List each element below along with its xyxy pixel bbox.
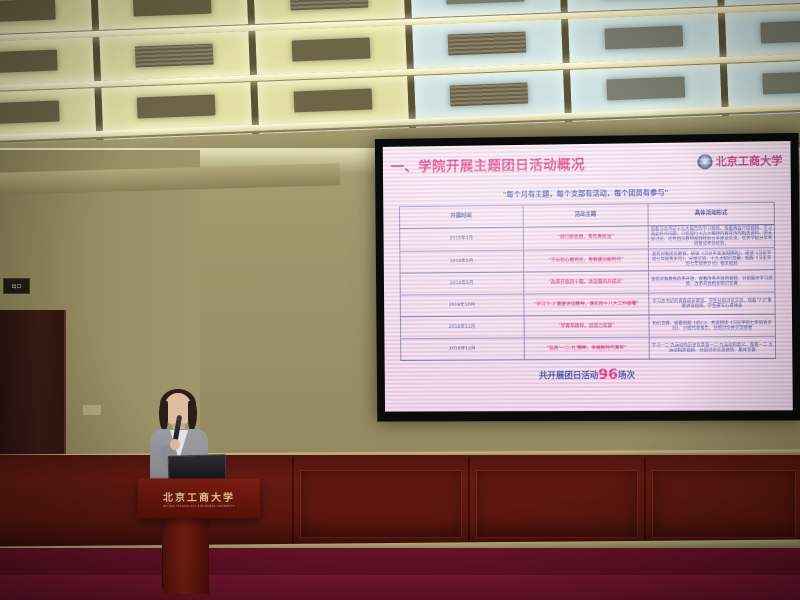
speaker-hair-left <box>159 401 168 431</box>
ceiling-panel <box>0 37 94 87</box>
cell-time: 2018年6月 <box>400 272 524 295</box>
ceiling-panel <box>0 88 96 138</box>
cell-theme: "不忘初心跟党走，青春建功新时代" <box>523 249 648 272</box>
col-header-theme: 活动主题 <box>523 204 648 227</box>
ceiling-panel <box>724 7 800 57</box>
table-row: 2018年12月 "弘扬'一二·九'精神，争做新时代青年" 学习一二·九运动的历… <box>400 337 775 361</box>
university-name: 北京工商大学 <box>716 152 783 169</box>
exit-sign: 出口 <box>3 278 30 294</box>
projection-screen-frame: 一、学院开展主题团日活动概况 北京工商大学 "每个月有主题，每个支部有活动，每个… <box>375 133 800 422</box>
lecture-hall-photo: 出口 一、学院开展主题团日活动概况 北京工商大学 "每个月有主题，每个支部有活动… <box>0 0 800 600</box>
activity-table: 开展时间 活动主题 具体活动形式 2018年4月 "践行新思想，青年勇担当" 观… <box>399 202 776 361</box>
panel-seam <box>292 457 294 545</box>
cell-theme: "学青年榜样，创活力支部" <box>524 315 649 338</box>
ceiling-panel <box>570 64 721 114</box>
cell-time: 2018年4月 <box>400 227 524 251</box>
ceiling-panel <box>101 82 252 132</box>
panel-seam <box>644 457 646 545</box>
slide-subtitle: "每个月有主题，每个支部有活动，每个团员有参与" <box>391 187 783 202</box>
lectern-name-english: BEIJING TECHNOLOGY & BUSINESS UNIVERSITY <box>163 504 235 507</box>
panel-inset <box>300 470 462 538</box>
cell-theme: "践行新思想，青年勇担当" <box>523 226 648 251</box>
slide-header: 一、学院开展主题团日活动概况 北京工商大学 <box>391 147 783 178</box>
lectern-nameplate: 北京工商大学 BEIJING TECHNOLOGY & BUSINESS UNI… <box>138 478 261 517</box>
podium-column <box>163 512 209 594</box>
hall-door[interactable] <box>0 310 66 470</box>
cell-time: 2018年12月 <box>400 338 524 361</box>
footer-prefix: 共开展团日活动 <box>539 371 598 381</box>
table-row: 2018年6月 "改革开放四十载，沐浴春风共成长" 发挥对象教育改革开放、观看改… <box>400 270 775 295</box>
cell-form: 学习总书记的青春成长寄语、学生分组讨论交流、观看"7·2"重要讲话视频、学生撰写… <box>649 292 776 315</box>
panel-inset <box>476 470 638 538</box>
cell-time: 2018年5月 <box>400 250 524 273</box>
ceiling-panel <box>257 76 408 126</box>
cell-form: 学习一二·九运动的历史背景及一二·九运动的意义、观看一二·九运动相关视频、分组讨… <box>649 337 776 360</box>
speaker-hand <box>170 439 180 450</box>
ceiling-vent-panel <box>414 70 565 120</box>
col-header-form: 具体活动形式 <box>648 202 775 226</box>
lectern-name-chinese: 北京工商大学 <box>163 489 235 504</box>
cell-time: 2018年10月 <box>400 294 524 317</box>
presentation-slide: 一、学院开展主题团日活动概况 北京工商大学 "每个月有主题，每个支部有活动，每个… <box>383 141 793 412</box>
lectern: 北京工商大学 BEIJING TECHNOLOGY & BUSINESS UNI… <box>138 478 261 517</box>
ceiling-panel <box>568 13 719 63</box>
cell-theme: "弘扬'一二·九'精神，争做新时代青年" <box>524 337 649 360</box>
slide-title: 一、学院开展主题团日活动概况 <box>391 153 585 176</box>
ceiling-panel <box>726 58 800 108</box>
slide-footer-summary: 共开展团日活动96场次 <box>393 366 785 384</box>
ceiling-panel <box>255 25 406 75</box>
ceiling-vent-panel <box>412 19 563 69</box>
university-logo-icon <box>697 154 712 169</box>
wall-outlet <box>82 404 102 416</box>
projection-screen: 一、学院开展主题团日活动概况 北京工商大学 "每个月有主题，每个支部有活动，每个… <box>383 141 793 412</box>
cell-form: 发挥对象团员教育，研读《习近平谈治国理政》，研读《习近平给七年知青岁月》，分组交… <box>648 248 775 271</box>
footer-count: 96 <box>598 367 618 383</box>
panel-seam <box>468 457 470 545</box>
cell-form: 发挥对象教育改革开放、观看改革开放的视频、分组展示学习成果、改革开放相关知识竞赛 <box>649 270 776 293</box>
exit-sign-label: 出口 <box>11 283 21 290</box>
cell-form: 观看习总书记十九大报告的学习视频、观看两会介绍视频、学习两会热点问题、介绍现行十… <box>648 224 775 249</box>
cell-theme: "改革开放四十载，沐浴春风共成长" <box>524 271 649 294</box>
col-header-time: 开展时间 <box>399 205 523 228</box>
table-row: 2018年11月 "学青年榜样，创活力支部" 知识竞赛、观看视频《初心》、共读团… <box>400 314 775 339</box>
cell-time: 2018年11月 <box>400 316 524 339</box>
cell-theme: "学习'7·2'重要讲话精神，落实团十八大工作部署" <box>524 293 649 316</box>
ceiling-panel <box>0 0 92 36</box>
speaker-hair-right <box>188 401 197 431</box>
ceiling-vent-panel <box>99 31 250 81</box>
cell-form: 知识竞赛、观看视频《初心》、共读团读《习近平的七年知青岁月》、小组代表报告、分组… <box>649 314 776 337</box>
table-row: 2018年10月 "学习'7·2'重要讲话精神，落实团十八大工作部署" 学习总书… <box>400 292 775 317</box>
footer-suffix: 场次 <box>618 371 635 381</box>
floor-carpet-front <box>0 575 800 600</box>
university-brand: 北京工商大学 <box>697 152 782 169</box>
panel-inset <box>652 470 796 538</box>
